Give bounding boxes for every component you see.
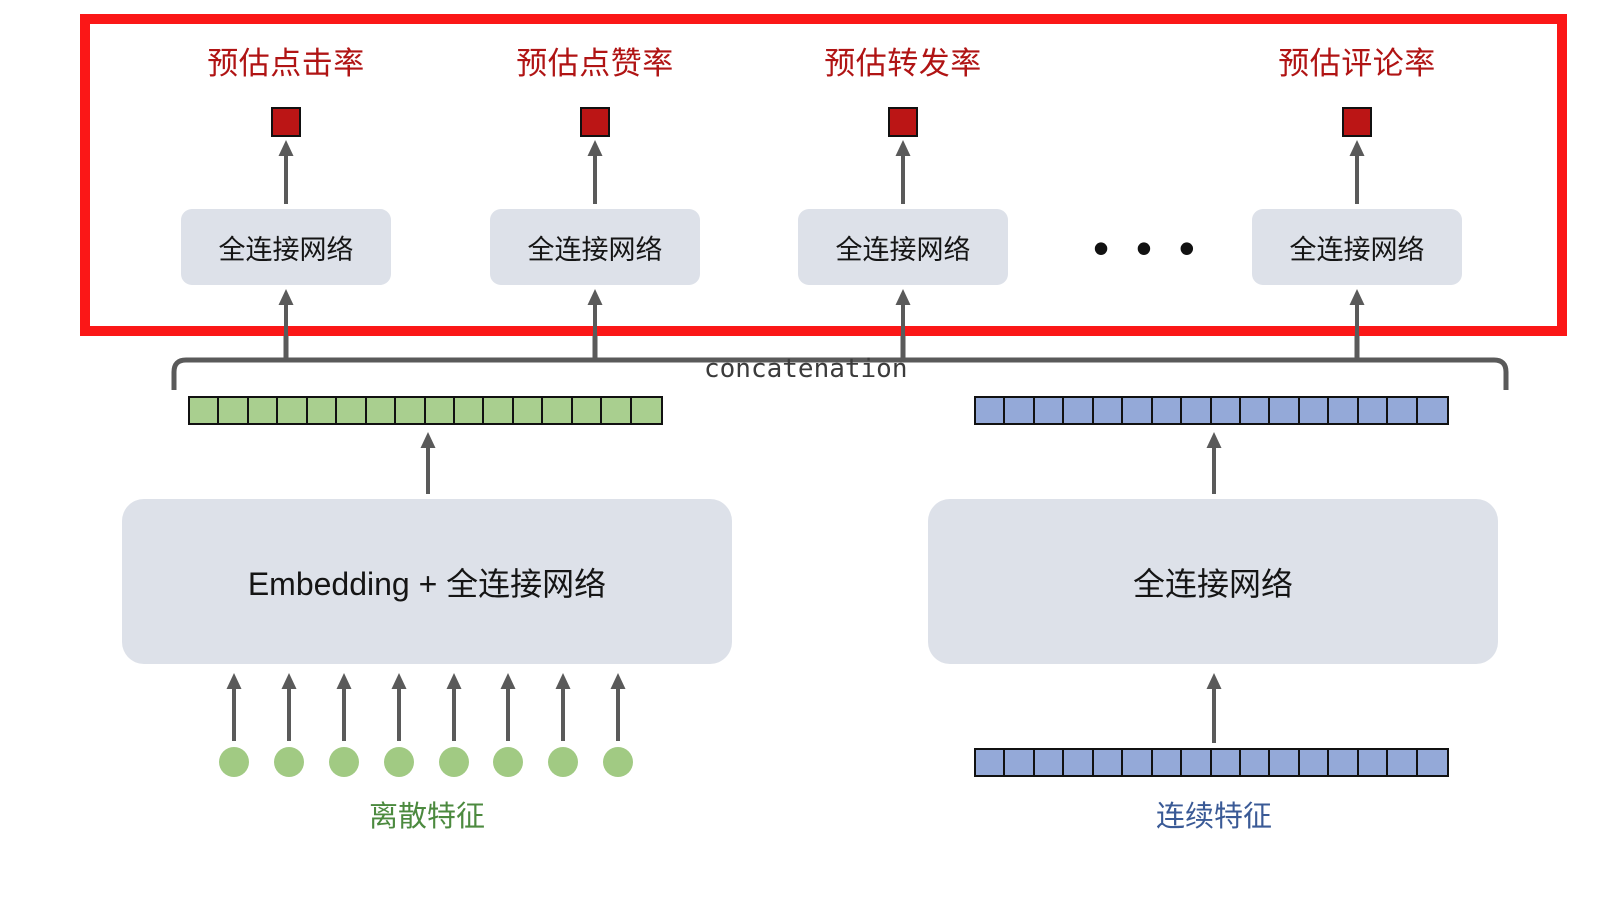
arrow-discrete-input-1	[224, 673, 244, 741]
arrow-fc-to-output-share	[893, 140, 913, 204]
caption-continuous-features: 连续特征	[1064, 803, 1364, 832]
arrow-fc-to-output-comment	[1347, 140, 1367, 204]
ellipsis-more-heads: • • •	[1093, 238, 1202, 258]
head-label-comment: 预估评论率	[1207, 48, 1507, 79]
discrete-feature-dot-3	[329, 747, 359, 777]
arrow-discrete-input-2	[279, 673, 299, 741]
tower-box-discrete: Embedding + 全连接网络	[122, 499, 732, 664]
arrow-continuous-input-to-tower	[1204, 673, 1224, 743]
output-marker-ctr	[271, 107, 301, 137]
output-marker-share	[888, 107, 918, 137]
arrow-concat-to-fc-comment	[1347, 289, 1367, 359]
head-label-share: 预估转发率	[753, 48, 1053, 79]
arrow-concat-to-fc-share	[893, 289, 913, 359]
arrow-discrete-input-7	[553, 673, 573, 741]
arrow-continuous-tower-to-vector	[1204, 432, 1224, 494]
fc-box-like-label: 全连接网络	[528, 228, 663, 267]
arrow-fc-to-output-ctr	[276, 140, 296, 204]
fc-box-comment: 全连接网络	[1252, 209, 1462, 285]
diagram-canvas: 预估点击率 全连接网络 预估点赞率 全连接网络 预估转发率	[0, 0, 1599, 899]
head-label-like: 预估点赞率	[445, 48, 745, 79]
fc-box-share: 全连接网络	[798, 209, 1008, 285]
tower-box-discrete-label: Embedding + 全连接网络	[248, 559, 606, 605]
vector-discrete-embedding	[188, 396, 663, 425]
discrete-feature-dot-6	[493, 747, 523, 777]
arrow-concat-to-fc-like	[585, 289, 605, 359]
output-marker-comment	[1342, 107, 1372, 137]
discrete-feature-dot-7	[548, 747, 578, 777]
fc-box-comment-label: 全连接网络	[1290, 228, 1425, 267]
concatenation-label: concatenation	[704, 356, 908, 382]
discrete-feature-dot-4	[384, 747, 414, 777]
head-label-ctr: 预估点击率	[136, 48, 436, 79]
tower-box-continuous: 全连接网络	[928, 499, 1498, 664]
discrete-feature-dot-8	[603, 747, 633, 777]
arrow-discrete-input-5	[444, 673, 464, 741]
arrow-fc-to-output-like	[585, 140, 605, 204]
arrow-discrete-input-8	[608, 673, 628, 741]
arrow-discrete-input-3	[334, 673, 354, 741]
fc-box-share-label: 全连接网络	[836, 228, 971, 267]
arrow-concat-to-fc-ctr	[276, 289, 296, 359]
arrow-discrete-input-6	[498, 673, 518, 741]
discrete-feature-dot-2	[274, 747, 304, 777]
output-marker-like	[580, 107, 610, 137]
fc-box-like: 全连接网络	[490, 209, 700, 285]
discrete-feature-dot-5	[439, 747, 469, 777]
fc-box-ctr-label: 全连接网络	[219, 228, 354, 267]
arrow-discrete-input-4	[389, 673, 409, 741]
arrow-discrete-tower-to-vector	[418, 432, 438, 494]
discrete-feature-dot-1	[219, 747, 249, 777]
caption-discrete-features: 离散特征	[277, 803, 577, 832]
fc-box-ctr: 全连接网络	[181, 209, 391, 285]
vector-continuous-input	[974, 748, 1449, 777]
vector-continuous-output	[974, 396, 1449, 425]
tower-box-continuous-label: 全连接网络	[1133, 559, 1293, 605]
